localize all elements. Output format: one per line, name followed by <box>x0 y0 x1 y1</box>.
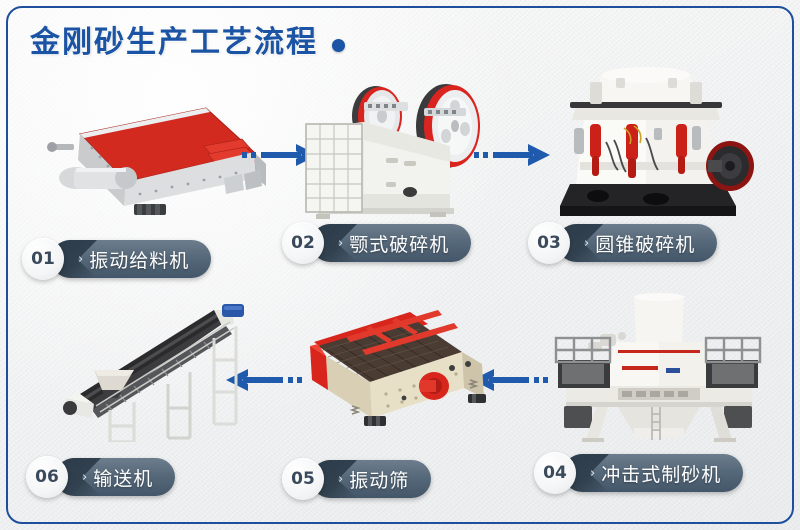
step-03-pill[interactable]: › 圆锥破碎机 <box>558 224 717 262</box>
step-04-pill[interactable]: › 冲击式制砂机 <box>564 454 743 492</box>
flowchart-canvas: 金刚砂生产工艺流程 <box>0 0 800 530</box>
step-06-pill[interactable]: › 输送机 <box>56 458 175 496</box>
cone-crusher-image <box>528 62 778 228</box>
chevron-right-icon: › <box>590 466 595 481</box>
step-04[interactable]: 04 › 冲击式制砂机 <box>534 292 784 497</box>
step-04-number: 04 <box>534 452 576 494</box>
impact-sand-maker-image <box>534 292 784 442</box>
step-01-pill[interactable]: › 振动给料机 <box>52 240 211 278</box>
step-02-label-group[interactable]: 02 › 颚式破碎机 <box>282 221 471 265</box>
vibrating-feeder-image <box>22 78 272 228</box>
step-01[interactable]: 01 › 振动给料机 <box>22 78 272 283</box>
step-06-number: 06 <box>26 456 68 498</box>
step-01-label: 振动给料机 <box>89 246 189 273</box>
step-02-label: 颚式破碎机 <box>349 230 449 257</box>
step-01-number: 01 <box>22 238 64 280</box>
step-04-label: 冲击式制砂机 <box>601 460 721 487</box>
step-05-number: 05 <box>282 458 324 500</box>
chevron-right-icon: › <box>584 236 589 251</box>
step-03[interactable]: 03 › 圆锥破碎机 <box>528 62 778 267</box>
chevron-right-icon: › <box>82 470 87 485</box>
chevron-right-icon: › <box>338 236 343 251</box>
step-06-label-group[interactable]: 06 › 输送机 <box>26 455 175 499</box>
step-03-label: 圆锥破碎机 <box>595 230 695 257</box>
step-03-number: 03 <box>528 222 570 264</box>
step-02-pill[interactable]: › 颚式破碎机 <box>312 224 471 262</box>
step-06-label: 输送机 <box>93 464 153 491</box>
step-06[interactable]: 06 › 输送机 <box>26 296 276 501</box>
step-01-label-group[interactable]: 01 › 振动给料机 <box>22 237 211 281</box>
page-title-text: 金刚砂生产工艺流程 <box>30 28 318 58</box>
page-title: 金刚砂生产工艺流程 <box>30 28 345 58</box>
belt-conveyor-image <box>26 296 276 442</box>
step-05-label: 振动筛 <box>349 466 409 493</box>
title-dot-icon <box>332 39 345 52</box>
chevron-right-icon: › <box>338 472 343 487</box>
vibrating-screen-image <box>282 298 532 440</box>
step-05-pill[interactable]: › 振动筛 <box>312 460 431 498</box>
chevron-right-icon: › <box>78 252 83 267</box>
step-04-label-group[interactable]: 04 › 冲击式制砂机 <box>534 451 743 495</box>
step-05-label-group[interactable]: 05 › 振动筛 <box>282 457 431 501</box>
step-03-label-group[interactable]: 03 › 圆锥破碎机 <box>528 221 717 265</box>
step-05[interactable]: 05 › 振动筛 <box>282 298 532 503</box>
step-02-number: 02 <box>282 222 324 264</box>
